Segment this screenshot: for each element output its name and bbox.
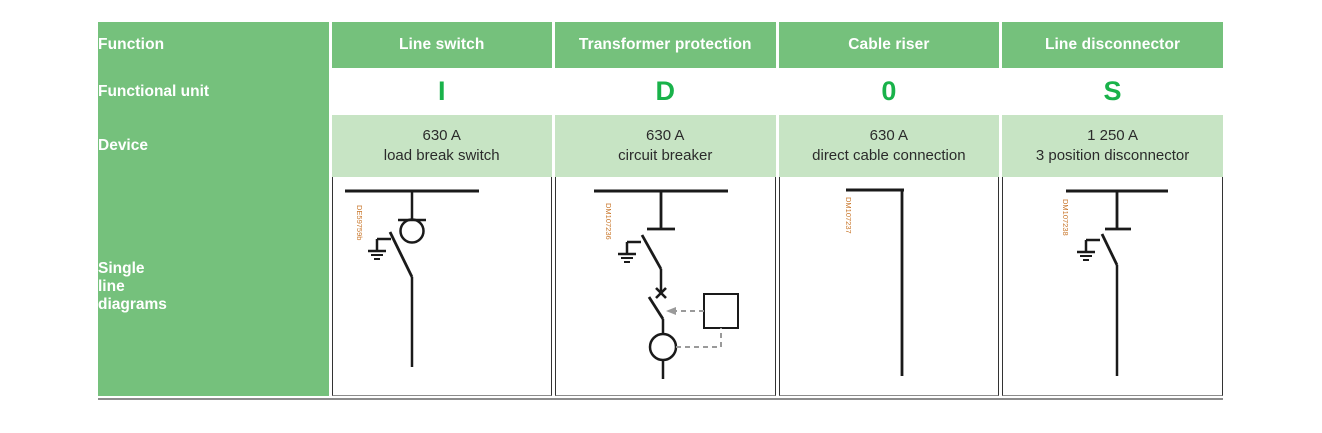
row-header-device: Device [98,115,329,177]
diagram-reference-2: DM107237 [844,197,853,234]
device-rating-3: 1 250 A [1002,126,1223,146]
column-header-1: Transformer protection [555,22,776,68]
functional-unit-symbol-0: I [438,76,446,106]
table-bottom-rule [98,398,1223,400]
table-row-function: Function Line switch Transformer protect… [98,22,1223,68]
device-type-1: circuit breaker [555,146,776,166]
functional-unit-symbol-3: S [1104,76,1122,106]
table-row-device: Device 630 A load break switch 630 A cir… [98,115,1223,177]
row-header-line-2: line [98,278,329,296]
row-header-line-1: Single [98,260,329,278]
single-line-diagram-cell-2: DM107237 [779,177,1000,396]
device-cell-0: 630 A load break switch [332,115,552,177]
device-cell-1: 630 A circuit breaker [555,115,776,177]
row-header-functional-unit: Functional unit [98,68,329,115]
diagram-reference-3: DM107238 [1061,199,1070,236]
device-type-3: 3 position disconnector [1002,146,1223,166]
functional-unit-cell-1: D [555,68,776,115]
column-header-2: Cable riser [779,22,1000,68]
table-row-single-line-diagrams: Single line diagrams [98,177,1223,396]
column-header-0: Line switch [332,22,552,68]
three-position-disconnector-diagram: DM107238 [1003,177,1225,395]
device-cell-3: 1 250 A 3 position disconnector [1002,115,1223,177]
diagram-reference-1: DM107236 [604,203,613,240]
page-root: Function Line switch Transformer protect… [0,0,1322,433]
diagram-canvas-0: DE59759b [333,177,551,395]
single-line-diagram-cell-1: DM107236 [555,177,776,396]
column-header-3: Line disconnector [1002,22,1223,68]
functional-unit-symbol-1: D [655,76,675,106]
device-rating-2: 630 A [779,126,1000,146]
diagram-canvas-3: DM107238 [1003,177,1222,395]
functional-unit-symbol-2: 0 [881,76,896,106]
diagram-reference-0: DE59759b [355,205,364,240]
device-cell-2: 630 A direct cable connection [779,115,1000,177]
device-type-2: direct cable connection [779,146,1000,166]
device-rating-1: 630 A [555,126,776,146]
functional-units-table: Function Line switch Transformer protect… [98,22,1223,396]
direct-cable-connection-diagram: DM107237 [780,177,1002,395]
circuit-breaker-diagram: DM107236 [556,177,778,395]
diagram-canvas-2: DM107237 [780,177,999,395]
load-break-switch-diagram: DE59759b [333,177,555,395]
diagram-canvas-1: DM107236 [556,177,775,395]
row-header-single-line-diagrams: Single line diagrams [98,177,329,396]
row-header-line-3: diagrams [98,296,329,314]
device-type-0: load break switch [332,146,552,166]
functional-unit-cell-0: I [332,68,552,115]
single-line-diagram-cell-3: DM107238 [1002,177,1223,396]
row-header-function: Function [98,22,329,68]
functional-unit-cell-3: S [1002,68,1223,115]
table-row-functional-unit: Functional unit I D 0 S [98,68,1223,115]
functional-unit-cell-2: 0 [779,68,1000,115]
single-line-diagram-cell-0: DE59759b [332,177,552,396]
device-rating-0: 630 A [332,126,552,146]
